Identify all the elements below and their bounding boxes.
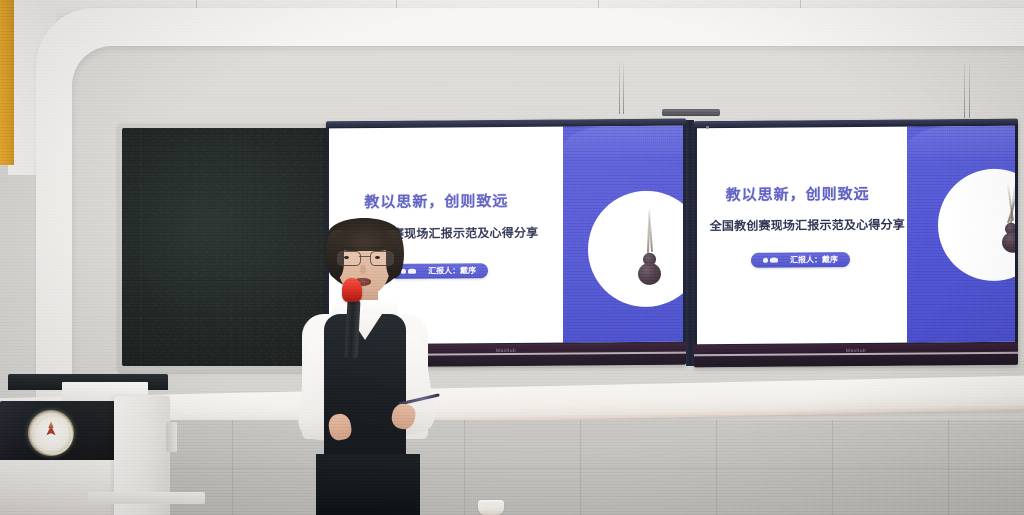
presenter: [280, 218, 450, 515]
screen-seam: [686, 120, 694, 366]
eye-left: [344, 256, 349, 259]
lectern[interactable]: [0, 374, 205, 515]
eyebrow-left: [340, 247, 354, 249]
eye-right: [375, 256, 380, 259]
sensor-indicator-dot: [706, 126, 709, 129]
ceiling-wire: [619, 62, 620, 114]
microphone-head: [342, 278, 362, 302]
ceiling-wire: [964, 62, 965, 118]
slide-title: 教以思新，创则致远: [726, 183, 870, 205]
screen-control-strip[interactable]: ······ · ··: [454, 358, 486, 363]
gourd-vase: [638, 262, 661, 284]
slide-title: 教以思新，创则致远: [364, 190, 508, 212]
school-crest-emblem: [28, 410, 74, 456]
screen-brand-label: Maxhub: [846, 348, 866, 354]
slide-right: 教以思新，创则致远 全国教创赛现场汇报示范及心得分享 汇报人：戴序: [697, 126, 1015, 344]
lectern-handle[interactable]: [166, 422, 177, 452]
white-paper-cup: [478, 500, 504, 515]
media-wall: 教以思新，创则致远 全国教创赛现场汇报示范及心得分享 汇报人：戴序 Maxhub…: [118, 120, 1018, 374]
gourd-vase: [1002, 232, 1015, 253]
emblem-ring: [33, 415, 73, 455]
cup-rim: [478, 500, 504, 505]
eyebrow-right: [370, 247, 384, 249]
person-icon-body: [770, 258, 778, 263]
person-icon: [763, 258, 768, 263]
glasses-bridge: [359, 256, 370, 257]
slide-presenter-badge: 汇报人：戴序: [751, 252, 850, 268]
screen-bottom-bezel: Maxhub: [694, 343, 1018, 368]
dark-skirt: [316, 454, 420, 515]
lens-left: [337, 251, 361, 266]
classroom-scene: 教以思新，创则致远 全国教创赛现场汇报示范及心得分享 汇报人：戴序 Maxhub…: [0, 0, 1024, 515]
screen-brand-label: Maxhub: [496, 348, 516, 354]
display-screen-right[interactable]: 教以思新，创则致远 全国教创赛现场汇报示范及心得分享 汇报人：戴序 Maxhub: [694, 119, 1018, 368]
ceiling-wire: [969, 62, 970, 118]
ceiling-wire: [623, 62, 624, 114]
slide-presenter-label: 汇报人：戴序: [790, 254, 838, 265]
lectern-shelf: [88, 492, 205, 504]
pillar-yellow-strip: [0, 0, 14, 165]
camera-sensor-bar: [662, 109, 720, 116]
nose: [360, 265, 366, 274]
lens-right: [370, 251, 394, 266]
slide-subtitle: 全国教创赛现场汇报示范及心得分享: [710, 215, 905, 234]
